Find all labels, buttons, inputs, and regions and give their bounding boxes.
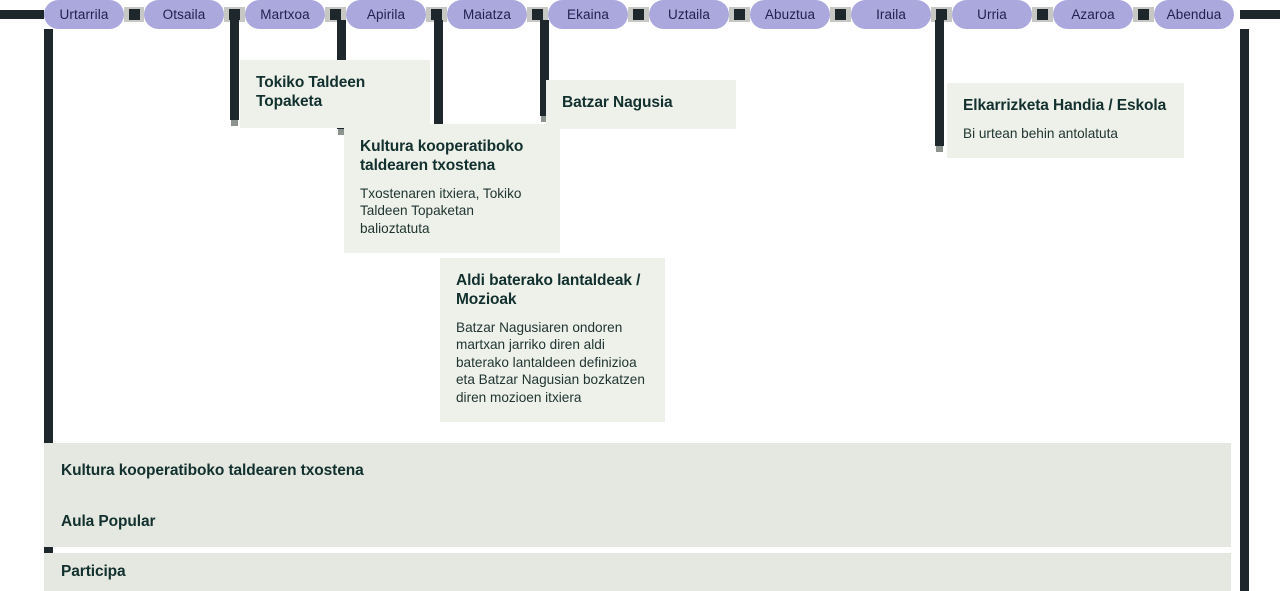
connector-cap <box>231 120 238 126</box>
month-pill-martxoa[interactable]: Martxoa <box>245 0 325 29</box>
rail-node <box>633 9 644 20</box>
month-pill-azaroa[interactable]: Azaroa <box>1053 0 1133 29</box>
section-row-participa[interactable]: Participa <box>61 563 126 581</box>
event-card-description: Batzar Nagusiaren ondoren martxan jarrik… <box>456 319 649 407</box>
rail-node <box>1138 9 1149 20</box>
event-card-tokiko-taldeen-topaketa[interactable]: Tokiko Taldeen Topaketa <box>240 60 430 128</box>
connector-tokiko-taldeen-topaketa <box>230 20 239 120</box>
section-row-kultura-kooperatiboko-taldearen-txostena[interactable]: Kultura kooperatiboko taldearen txostena <box>61 462 364 480</box>
event-card-elkarrizketa-handia-eskola[interactable]: Elkarrizketa Handia / EskolaBi urtean be… <box>947 83 1184 158</box>
rail-node <box>835 9 846 20</box>
connector-cap <box>936 146 943 152</box>
event-card-aldi-baterako-lantaldeak-mozioak[interactable]: Aldi baterako lantaldeak / MozioakBatzar… <box>440 258 665 422</box>
month-pill-iraila[interactable]: Iraila <box>851 0 931 29</box>
rail-node <box>734 9 745 20</box>
month-pill-uztaila[interactable]: Uztaila <box>649 0 729 29</box>
section-row-aula-popular[interactable]: Aula Popular <box>61 513 155 531</box>
event-card-description: Txostenaren itxiera, Tokiko Taldeen Topa… <box>360 185 544 238</box>
month-pill-maiatza[interactable]: Maiatza <box>447 0 527 29</box>
month-pill-abuztua[interactable]: Abuztua <box>750 0 830 29</box>
month-timeline: UrtarrilaOtsailaMartxoaApirilaMaiatzaEka… <box>0 0 1280 29</box>
month-pill-urria[interactable]: Urria <box>952 0 1032 29</box>
connector-elkarrizketa-handia-eskola <box>935 20 944 146</box>
month-pill-abendua[interactable]: Abendua <box>1154 0 1234 29</box>
rail-node <box>229 9 240 20</box>
month-pill-otsaila[interactable]: Otsaila <box>144 0 224 29</box>
rail-node <box>330 9 341 20</box>
event-card-description: Bi urtean behin antolatuta <box>963 125 1168 143</box>
month-pill-apirila[interactable]: Apirila <box>346 0 426 29</box>
rail-node <box>936 9 947 20</box>
rail-node <box>431 9 442 20</box>
event-card-title: Aldi baterako lantaldeak / Mozioak <box>456 272 649 310</box>
month-pill-ekaina[interactable]: Ekaina <box>548 0 628 29</box>
rail-node <box>532 9 543 20</box>
event-card-title: Kultura kooperatiboko taldearen txostena <box>360 138 544 176</box>
rail-node <box>1037 9 1048 20</box>
rail-segment-end <box>1240 10 1280 19</box>
month-pill-urtarrila[interactable]: Urtarrila <box>44 0 124 29</box>
event-card-batzar-nagusia[interactable]: Batzar Nagusia <box>546 80 736 129</box>
event-card-title: Tokiko Taldeen Topaketa <box>256 74 414 112</box>
section-section-block-2: Participa <box>44 553 1231 591</box>
rail-node <box>129 9 140 20</box>
event-card-kultura-kooperatiboko-taldearen-txostena[interactable]: Kultura kooperatiboko taldearen txostena… <box>344 124 560 253</box>
event-card-title: Batzar Nagusia <box>562 94 720 113</box>
section-section-block-1: Kultura kooperatiboko taldearen txostena… <box>44 443 1231 547</box>
timeline-canvas: UrtarrilaOtsailaMartxoaApirilaMaiatzaEka… <box>0 0 1280 591</box>
timeline-right-rail <box>1240 29 1249 591</box>
event-card-title: Elkarrizketa Handia / Eskola <box>963 97 1168 116</box>
rail-segment-start <box>0 10 44 19</box>
